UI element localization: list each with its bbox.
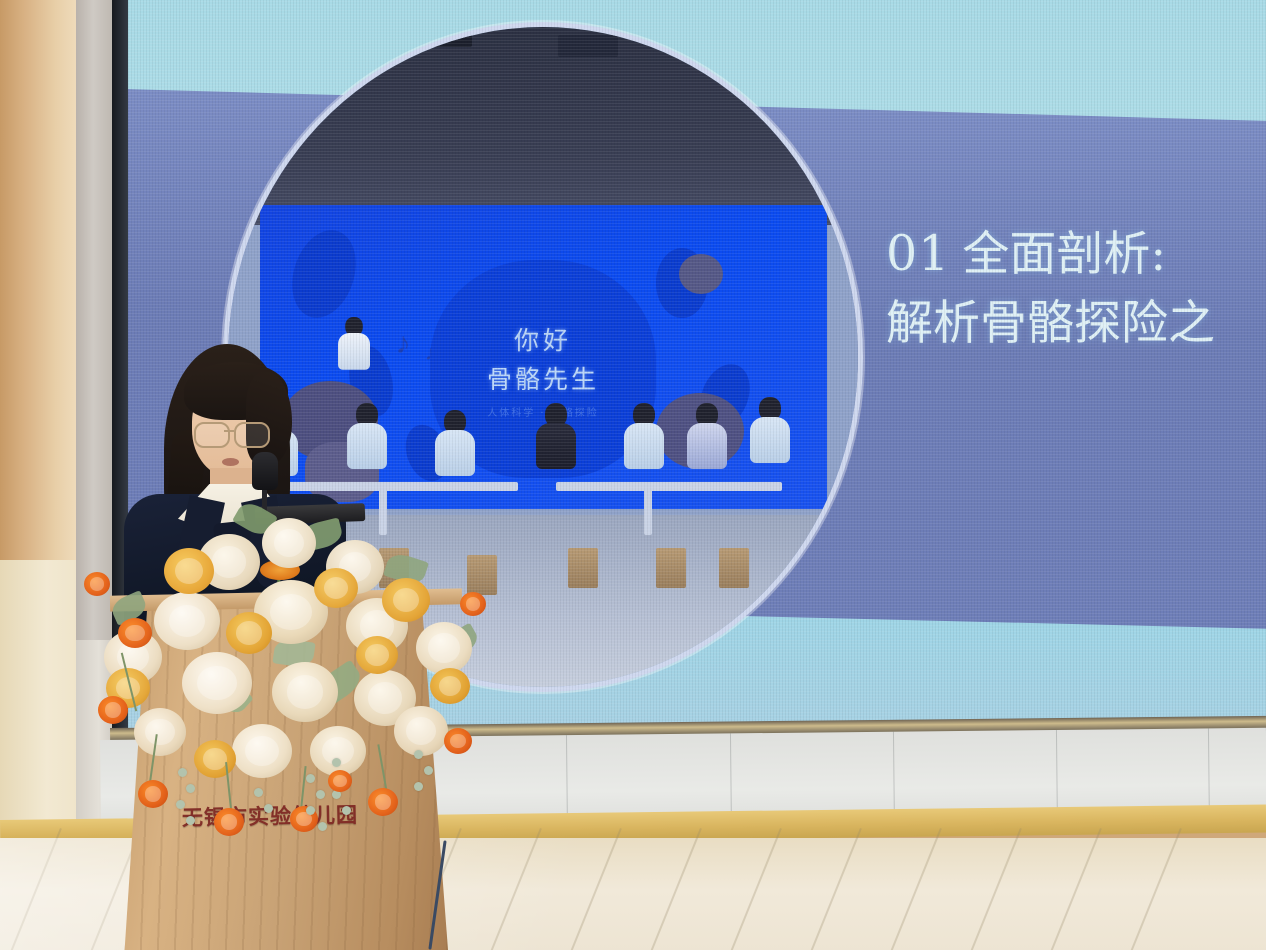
flower-arrangement [86,500,498,830]
rose-cream [416,622,472,674]
rose-yellow [226,612,272,654]
child-chair [719,548,749,588]
book-cover-title-line2: 骨骼先生 [430,360,657,396]
mouth [222,458,239,466]
child-chair [656,548,686,588]
rose-white [154,592,220,650]
microphone-icon [252,452,278,490]
flower-orange [460,592,486,616]
rose-white [182,652,252,714]
rose-yellow [194,740,236,778]
child-chair [568,548,598,588]
rose-yellow [314,568,358,608]
flower-orange [84,572,110,596]
ceiling-vent-icon [430,35,472,47]
music-note-icon: ♪ [396,327,411,361]
glasses-bridge [224,430,234,432]
flower-orange [138,780,168,808]
ceiling-projector-icon [558,35,618,57]
slide-title-line2: 解析骨骼探险之 [886,293,1266,355]
rose-cream [310,726,366,776]
glasses-lens-right [234,422,270,448]
rose-yellow [430,668,470,704]
rose-yellow [382,578,430,622]
slide-title-line1: 01全面剖析: [886,222,1266,287]
flower-orange [214,808,244,836]
glasses-lens-left [194,422,230,448]
classroom-ceiling [223,27,863,225]
slide-title-block: 01全面剖析: 解析骨骼探险之 [886,222,1266,355]
flower-orange [444,728,472,754]
rose-cream [134,708,186,756]
rose-cream [272,662,338,722]
ceiling-light-icon [679,35,721,47]
flower-orange [118,618,152,648]
rose-cream [232,724,292,778]
rose-yellow [356,636,398,674]
rose-cream [262,518,316,568]
illustrated-hand [679,254,723,294]
flower-orange [98,696,128,724]
classroom-table [556,482,783,491]
slide-title-text1: 全面剖析: [962,227,1166,282]
rose-yellow [164,548,214,594]
slide-section-number: 01 [886,225,950,282]
rose-cream [394,706,448,756]
photo-scene: ♪ ♫ 你好 骨骼先生 人体科学 · 骨骼探险 [0,0,1266,950]
book-cover-title-line1: 你好 [430,321,657,357]
podium-garland [300,770,420,840]
